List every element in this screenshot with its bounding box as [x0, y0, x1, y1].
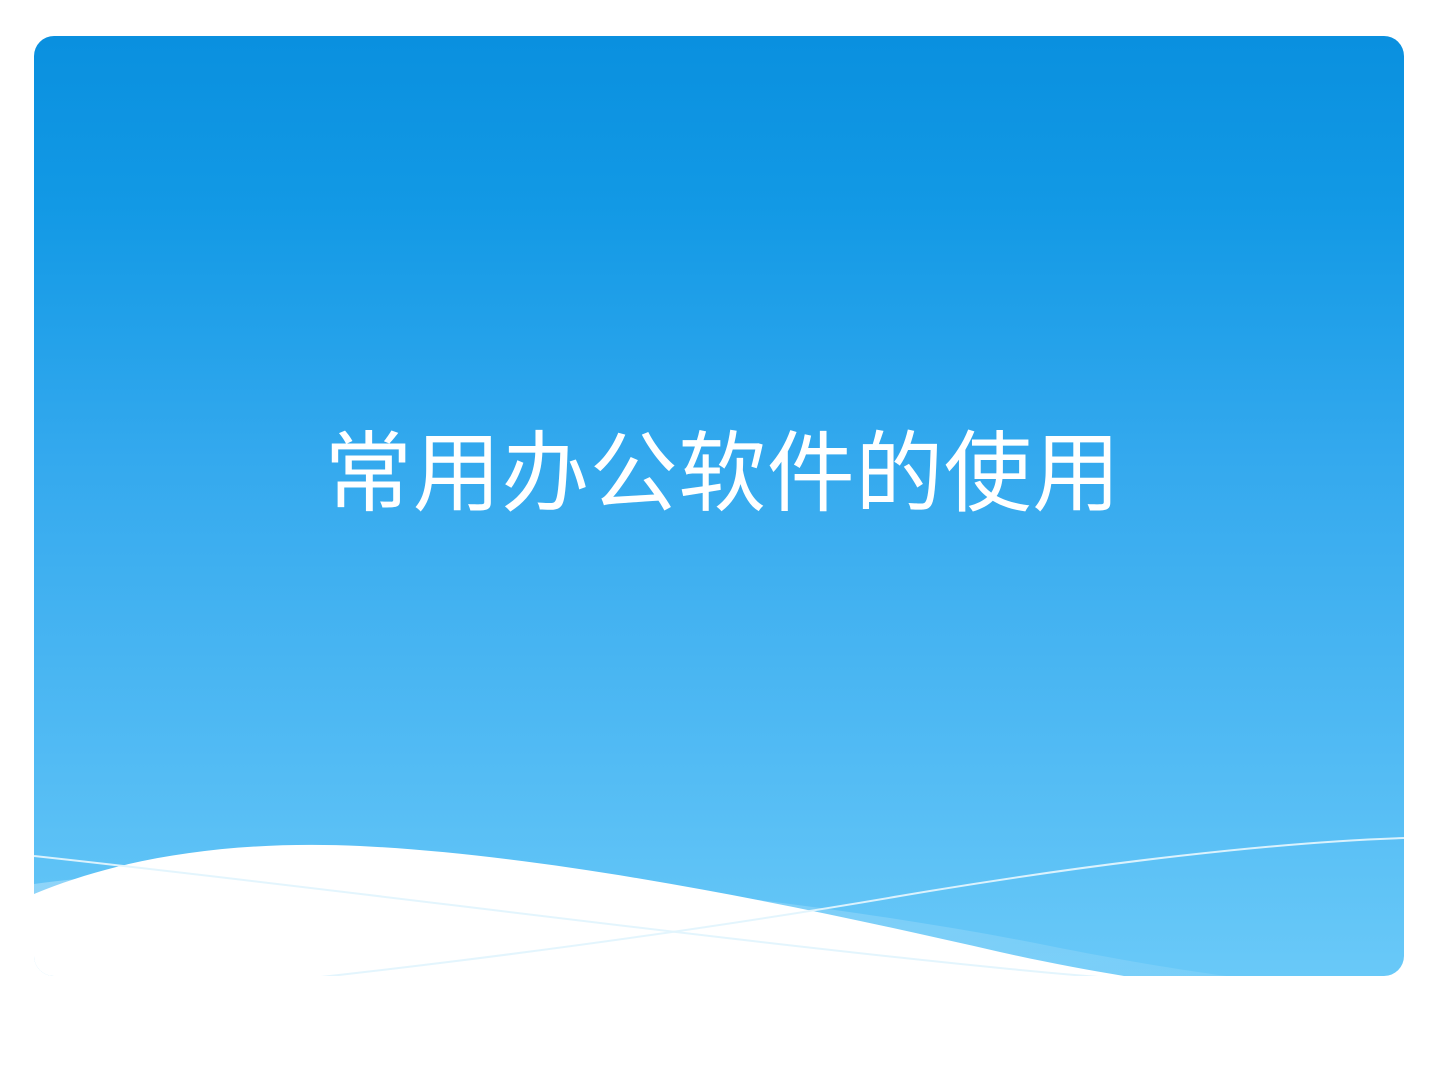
slide-background-graphic — [0, 0, 1440, 1080]
presentation-slide: 常用办公软件的使用 — [0, 0, 1440, 1080]
blue-panel-group — [34, 36, 1404, 1080]
